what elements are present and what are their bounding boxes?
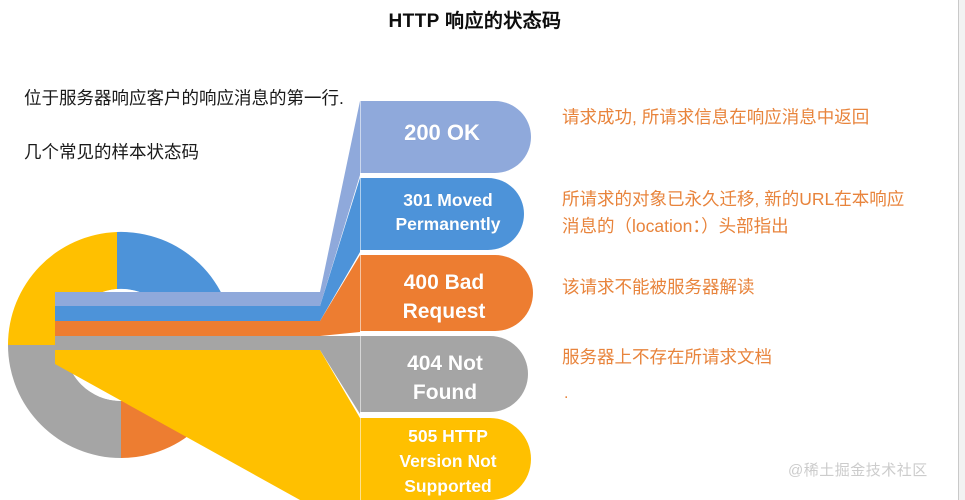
status-code-label-301: 301 Moved Permanently (378, 188, 518, 236)
intro-line-1: 位于服务器响应客户的响应消息的第一行. (24, 85, 344, 112)
slide-canvas: HTTP 响应的状态码 位于服务器响应客户的响应消息的第一行. 几个常见的样本状… (0, 0, 965, 500)
page-title: HTTP 响应的状态码 (0, 6, 950, 33)
watermark: @稀土掘金技术社区 (788, 459, 928, 480)
status-code-description-301: 所请求的对象已永久迁移, 新的URL在本响应 消息的（location：）头部指… (562, 186, 958, 240)
status-code-label-505: 505 HTTP Version Not Supported (374, 424, 522, 499)
status-code-label-404: 404 Not Found (372, 349, 518, 407)
status-code-description-400: 该请求不能被服务器解读 (562, 274, 958, 301)
status-code-description-200: 请求成功, 所请求信息在响应消息中返回 (562, 104, 958, 131)
right-edge-strip (959, 0, 965, 500)
status-code-description-404: 服务器上不存在所请求文档 (562, 344, 958, 371)
trailing-dot: . (564, 386, 568, 402)
intro-line-2: 几个常见的样本状态码 (24, 139, 344, 166)
intro-paragraph: 位于服务器响应客户的响应消息的第一行. 几个常见的样本状态码 (24, 58, 344, 193)
status-code-label-200: 200 OK (372, 120, 512, 145)
status-code-label-400: 400 Bad Request (370, 268, 518, 326)
